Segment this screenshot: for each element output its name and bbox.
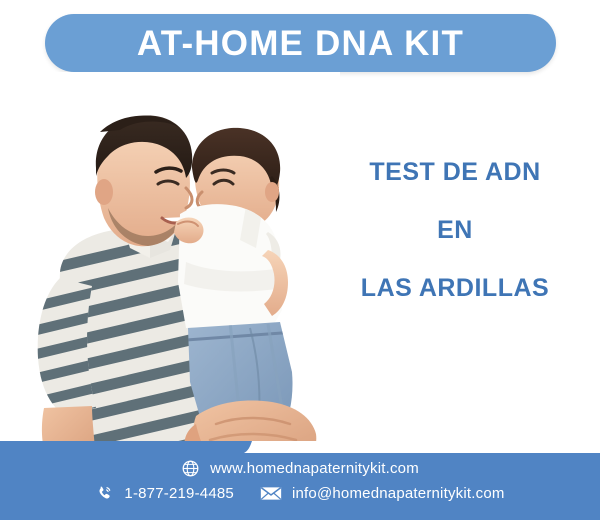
- website-text: www.homednapaternitykit.com: [210, 461, 419, 476]
- email-text: info@homednapaternitykit.com: [292, 486, 505, 501]
- headline-block: TEST DE ADN EN LAS ARDILLAS: [330, 160, 580, 301]
- header-banner: AT-HOME DNA KIT: [45, 14, 556, 72]
- footer-email-item[interactable]: info@homednapaternitykit.com: [260, 485, 505, 502]
- envelope-icon: [260, 485, 282, 502]
- phone-text: 1-877-219-4485: [124, 486, 234, 501]
- footer-phone-item[interactable]: 1-877-219-4485: [95, 484, 234, 503]
- headline-line-2: EN: [330, 218, 580, 243]
- globe-icon: [181, 459, 200, 478]
- poster-canvas: AT-HOME DNA KIT: [0, 0, 600, 520]
- footer-website-row[interactable]: www.homednapaternitykit.com: [181, 459, 419, 478]
- headline-line-3: LAS ARDILLAS: [330, 276, 580, 301]
- father-and-child-photo: [0, 72, 340, 460]
- footer-contact-rows: www.homednapaternitykit.com 1-877-219-44…: [0, 441, 600, 520]
- headline-line-1: TEST DE ADN: [330, 160, 580, 185]
- page-title: AT-HOME DNA KIT: [137, 26, 464, 61]
- phone-icon: [95, 484, 114, 503]
- footer-phone-email-row: 1-877-219-4485 info@homednapaternitykit.…: [95, 484, 504, 503]
